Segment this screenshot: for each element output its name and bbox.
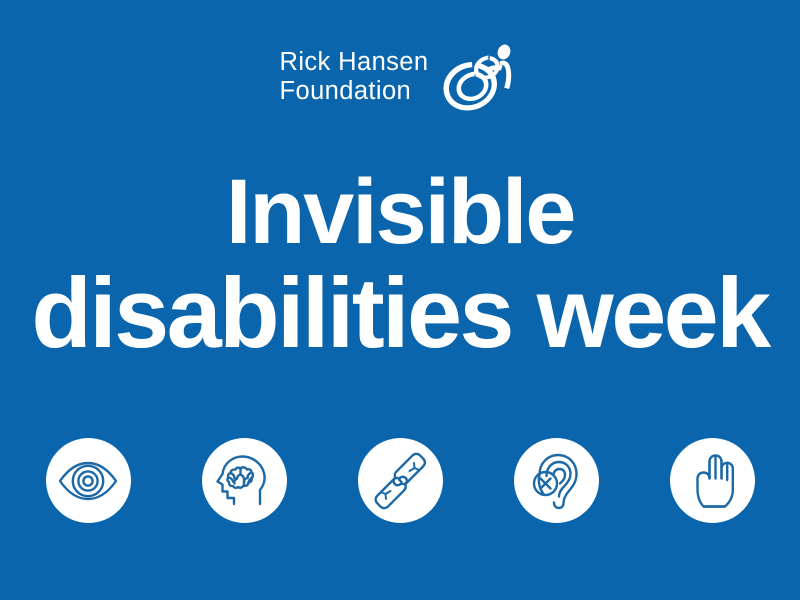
headline-line-1: Invisible xyxy=(0,168,800,257)
ear-crossed-icon xyxy=(525,450,587,512)
rick-hansen-wheelchair-athlete-logo-mark xyxy=(442,36,520,118)
icon-badge-chronic-pain xyxy=(358,438,443,523)
rick-hansen-foundation-logo: Rick Hansen Foundation xyxy=(0,36,800,118)
page-title: Invisible disabilities week xyxy=(0,168,800,361)
icon-badge-cognitive xyxy=(202,438,287,523)
headline-line-2: disabilities week xyxy=(0,265,800,361)
open-hand-icon xyxy=(681,450,743,512)
invisible-disabilities-week-poster: Rick Hansen Foundation Invisible xyxy=(0,0,800,600)
logo-line-2: Foundation xyxy=(280,79,429,105)
disability-icon-row xyxy=(0,438,800,523)
logo-wordmark: Rick Hansen Foundation xyxy=(280,50,429,104)
eye-icon xyxy=(57,450,119,512)
logo-line-1: Rick Hansen xyxy=(280,50,429,76)
icon-badge-hearing xyxy=(514,438,599,523)
icon-badge-dexterity xyxy=(670,438,755,523)
brain-head-icon xyxy=(213,450,275,512)
bone-joint-icon xyxy=(369,450,431,512)
icon-badge-vision xyxy=(46,438,131,523)
